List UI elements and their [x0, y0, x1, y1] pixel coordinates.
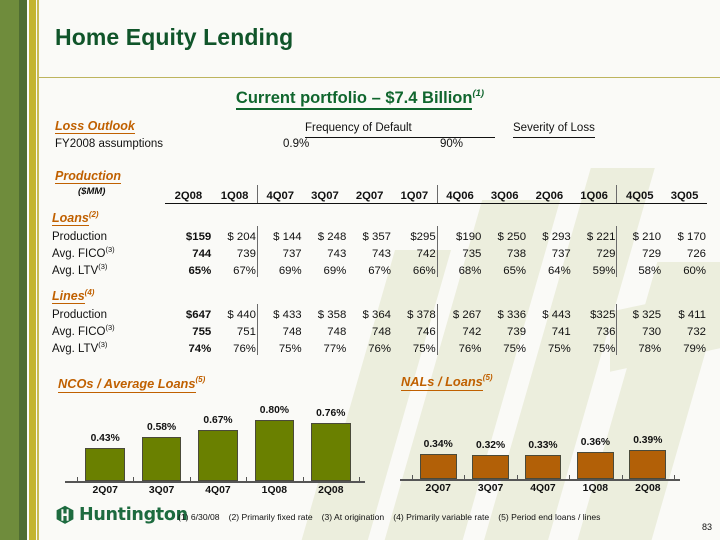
chart-axis-tick — [674, 475, 675, 479]
table-cell: $295 — [392, 226, 437, 243]
footnote-item: (4) Primarily variable rate — [393, 512, 489, 522]
slide-canvas: Home Equity Lending Current portfolio – … — [0, 0, 720, 540]
chart-bar — [311, 423, 350, 481]
table-cell: 69% — [303, 260, 348, 277]
chart-bar-value: 0.58% — [131, 422, 192, 433]
chart-ncos-plot: 0.43%2Q070.58%3Q070.67%4Q070.80%1Q080.76… — [55, 397, 365, 497]
table-column-header: 4Q07 — [257, 185, 302, 204]
table-row: Avg. LTV(3)74%76%75%77%76%75%76%75%75%75… — [52, 338, 707, 355]
table-cell: 58% — [617, 260, 662, 277]
portfolio-heading: Current portfolio – $7.4 Billion(1) — [0, 88, 720, 108]
chart-axis-tick — [133, 477, 134, 481]
chart-nals-loans: NALs / Loans(5) 0.34%2Q070.32%3Q070.33%4… — [398, 373, 690, 498]
severity-of-loss-header: Severity of Loss — [513, 118, 595, 138]
chart-bar — [472, 455, 509, 479]
footnote-item: (2) Primarily fixed rate — [229, 512, 313, 522]
table-cell: $ 336 — [482, 304, 527, 321]
table-cell: $ 144 — [257, 226, 302, 243]
table-cell: 65% — [165, 260, 213, 277]
table-cell: $ 357 — [347, 226, 392, 243]
table-row: Avg. FICO(3)7447397377437437427357387377… — [52, 243, 707, 260]
loans-subheading: Loans(2) — [52, 204, 707, 227]
table-cell: 68% — [437, 260, 482, 277]
portfolio-heading-footnote: (1) — [472, 88, 484, 99]
chart-axis-tick — [303, 477, 304, 481]
chart-bar — [255, 420, 294, 481]
table-cell: 75% — [257, 338, 302, 355]
chart-axis — [65, 481, 365, 483]
chart-category-label: 1Q08 — [566, 483, 625, 494]
table-cell: 59% — [572, 260, 617, 277]
table-cell: 60% — [662, 260, 707, 277]
chart-axis-tick — [359, 477, 360, 481]
table-cell: 729 — [617, 243, 662, 260]
table-cell: 751 — [212, 321, 257, 338]
chart-axis — [400, 479, 680, 481]
table-row-label: Avg. LTV(3) — [52, 260, 165, 277]
spine-gold-band — [29, 0, 36, 540]
chart-bar-value: 0.67% — [187, 415, 248, 426]
huntington-wordmark: Huntington — [79, 505, 188, 525]
frequency-of-default-header: Frequency of Default — [305, 118, 495, 138]
table-cell: 75% — [527, 338, 572, 355]
table-cell: 66% — [392, 260, 437, 277]
table-row-label: Avg. FICO(3) — [52, 243, 165, 260]
table-cell: $ 411 — [662, 304, 707, 321]
table-cell: 742 — [437, 321, 482, 338]
table-column-header: 2Q06 — [527, 185, 572, 204]
production-heading: Production — [55, 167, 121, 185]
frequency-of-default-value-2: 90% — [440, 138, 463, 150]
chart-nals-title: NALs / Loans(5) — [401, 373, 493, 391]
table-cell: $ 221 — [572, 226, 617, 243]
chart-axis-tick — [517, 475, 518, 479]
footnote-item: (1) 6/30/08 — [178, 512, 220, 522]
table-cell: 738 — [482, 243, 527, 260]
spine-dark-band — [19, 0, 27, 540]
chart-nals-plot: 0.34%2Q070.32%3Q070.33%4Q070.36%1Q080.39… — [398, 397, 680, 495]
table-cell: 77% — [303, 338, 348, 355]
table-cell: $ 267 — [437, 304, 482, 321]
loss-outlook-row-label: FY2008 assumptions — [55, 138, 163, 150]
chart-category-label: 1Q08 — [244, 485, 305, 496]
table-cell: $159 — [165, 226, 213, 243]
chart-bar-value: 0.80% — [244, 405, 305, 416]
footnotes: (1) 6/30/08(2) Primarily fixed rate(3) A… — [178, 512, 609, 522]
chart-bar — [142, 437, 181, 481]
table-cell: 732 — [662, 321, 707, 338]
chart-bar — [577, 452, 614, 479]
page-number: 83 — [702, 522, 712, 532]
table-row-label: Avg. FICO(3) — [52, 321, 165, 338]
table-cell: $647 — [165, 304, 213, 321]
table-column-header: 1Q07 — [392, 185, 437, 204]
chart-bar — [629, 450, 666, 479]
table-cell: 736 — [572, 321, 617, 338]
table-cell: $ 358 — [303, 304, 348, 321]
table-cell: 746 — [392, 321, 437, 338]
chart-axis-tick — [77, 477, 78, 481]
lines-subheading: Lines(4) — [52, 277, 707, 304]
table-cell: 748 — [347, 321, 392, 338]
header-divider — [39, 77, 720, 78]
chart-category-label: 2Q08 — [300, 485, 361, 496]
table-cell: $ 293 — [527, 226, 572, 243]
chart-bar-value: 0.43% — [74, 433, 135, 444]
table-cell: 737 — [257, 243, 302, 260]
chart-category-label: 3Q07 — [461, 483, 520, 494]
loss-outlook-heading: Loss Outlook — [55, 117, 135, 135]
table-cell: $ 248 — [303, 226, 348, 243]
table-cell: 739 — [482, 321, 527, 338]
table-cell: 729 — [572, 243, 617, 260]
table-column-header: 4Q05 — [617, 185, 662, 204]
table-cell: 64% — [527, 260, 572, 277]
table-cell: $ 440 — [212, 304, 257, 321]
chart-bar — [420, 454, 457, 479]
table-cell: $ 325 — [617, 304, 662, 321]
table-cell: 65% — [482, 260, 527, 277]
table-cell: 67% — [347, 260, 392, 277]
spine-gold-thin-band — [37, 0, 39, 540]
table-cell: 75% — [482, 338, 527, 355]
table-cell: 748 — [257, 321, 302, 338]
table-row-label: Avg. LTV(3) — [52, 338, 165, 355]
chart-axis-tick — [246, 477, 247, 481]
chart-category-label: 2Q07 — [409, 483, 468, 494]
table-corner — [52, 185, 165, 204]
table-cell: $325 — [572, 304, 617, 321]
chart-bar — [525, 455, 562, 479]
table-cell: $ 443 — [527, 304, 572, 321]
table-column-header: 2Q07 — [347, 185, 392, 204]
table-cell: 748 — [303, 321, 348, 338]
table-cell: 75% — [392, 338, 437, 355]
table-cell: 78% — [617, 338, 662, 355]
table-cell: 737 — [527, 243, 572, 260]
table-row: Production$647$ 440$ 433$ 358$ 364$ 378$… — [52, 304, 707, 321]
chart-axis-tick — [569, 475, 570, 479]
table-cell: $ 433 — [257, 304, 302, 321]
huntington-logo: Huntington — [55, 505, 188, 525]
chart-bar-value: 0.36% — [566, 437, 625, 448]
chart-category-label: 3Q07 — [131, 485, 192, 496]
page-title: Home Equity Lending — [55, 24, 293, 51]
table-cell: 741 — [527, 321, 572, 338]
table-cell: $ 170 — [662, 226, 707, 243]
chart-category-label: 2Q07 — [74, 485, 135, 496]
table-cell: $ 378 — [392, 304, 437, 321]
table-column-header: 1Q08 — [212, 185, 257, 204]
table-cell: $ 204 — [212, 226, 257, 243]
table-cell: 67% — [212, 260, 257, 277]
chart-bar — [85, 448, 124, 481]
table-cell: 69% — [257, 260, 302, 277]
table-cell: 739 — [212, 243, 257, 260]
table-cell: 79% — [662, 338, 707, 355]
production-table: 2Q081Q084Q073Q072Q071Q074Q063Q062Q061Q06… — [52, 185, 707, 355]
table-row: Avg. LTV(3)65%67%69%69%67%66%68%65%64%59… — [52, 260, 707, 277]
table-column-header: 4Q06 — [437, 185, 482, 204]
chart-axis-tick — [464, 475, 465, 479]
table-cell: 744 — [165, 243, 213, 260]
table-cell: 74% — [165, 338, 213, 355]
table-row-label: Production — [52, 304, 165, 321]
chart-category-label: 4Q07 — [187, 485, 248, 496]
frequency-of-default-value: 0.9% — [283, 138, 309, 150]
table-column-header: 3Q07 — [303, 185, 348, 204]
table-column-header: 2Q08 — [165, 185, 213, 204]
chart-ncos-average-loans: NCOs / Average Loans(5) 0.43%2Q070.58%3Q… — [55, 375, 365, 500]
table-row-label: Production — [52, 226, 165, 243]
chart-category-label: 4Q07 — [514, 483, 573, 494]
table-row: Avg. FICO(3)7557517487487487467427397417… — [52, 321, 707, 338]
huntington-mark-icon — [55, 505, 75, 525]
table-column-header: 1Q06 — [572, 185, 617, 204]
table-cell: 726 — [662, 243, 707, 260]
table-cell: 75% — [572, 338, 617, 355]
table-row: Production$159$ 204$ 144$ 248$ 357$295$1… — [52, 226, 707, 243]
chart-category-label: 2Q08 — [618, 483, 677, 494]
table-cell: 76% — [212, 338, 257, 355]
table-cell: $ 364 — [347, 304, 392, 321]
table-cell: 743 — [347, 243, 392, 260]
chart-axis-tick — [622, 475, 623, 479]
table-cell: 743 — [303, 243, 348, 260]
table-column-header: 3Q05 — [662, 185, 707, 204]
table-cell: 76% — [347, 338, 392, 355]
footnote-item: (5) Period end loans / lines — [498, 512, 600, 522]
chart-bar-value: 0.34% — [409, 439, 468, 450]
chart-bar-value: 0.32% — [461, 440, 520, 451]
table-cell: 76% — [437, 338, 482, 355]
chart-bar-value: 0.76% — [300, 408, 361, 419]
chart-ncos-title: NCOs / Average Loans(5) — [58, 375, 205, 393]
chart-bar — [198, 430, 237, 481]
table-cell: $ 250 — [482, 226, 527, 243]
footnote-item: (3) At origination — [322, 512, 385, 522]
table-cell: 730 — [617, 321, 662, 338]
table-cell: $ 210 — [617, 226, 662, 243]
chart-axis-tick — [190, 477, 191, 481]
portfolio-heading-text: Current portfolio – $7.4 Billion — [236, 89, 473, 110]
chart-bar-value: 0.39% — [618, 435, 677, 446]
chart-axis-tick — [412, 475, 413, 479]
table-cell: $190 — [437, 226, 482, 243]
chart-bar-value: 0.33% — [514, 440, 573, 451]
spine-olive-band — [0, 0, 19, 540]
table-cell: 755 — [165, 321, 213, 338]
table-cell: 735 — [437, 243, 482, 260]
table-column-header: 3Q06 — [482, 185, 527, 204]
table-cell: 742 — [392, 243, 437, 260]
